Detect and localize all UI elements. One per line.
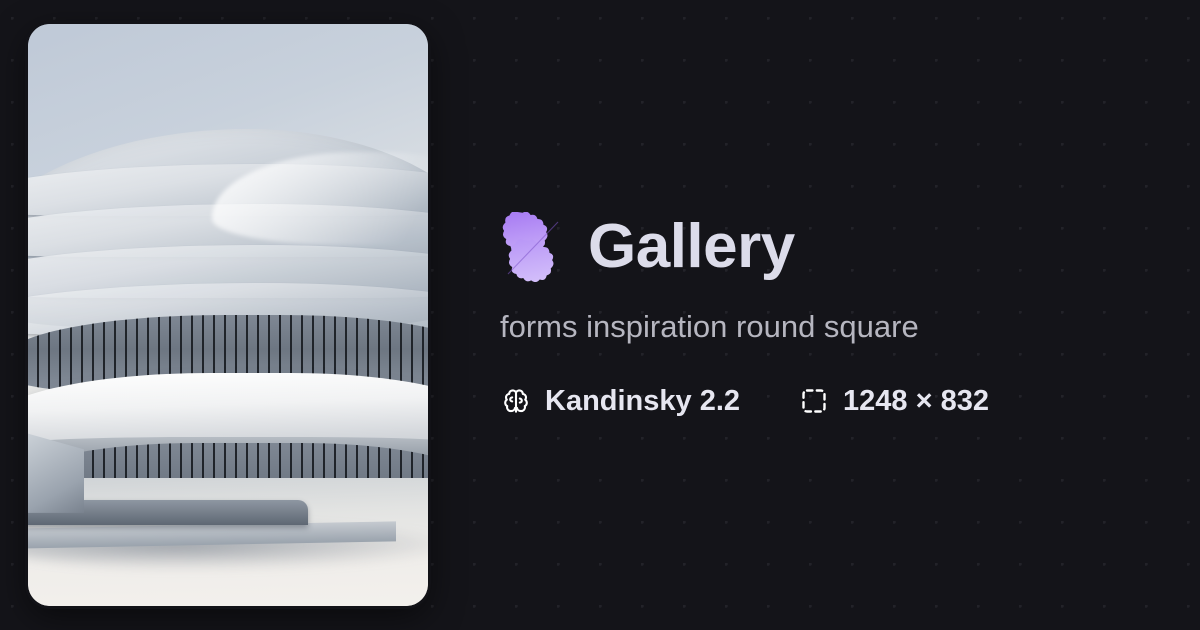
title-row: Gallery [500, 212, 1160, 282]
model-meta-item: Kandinsky 2.2 [500, 385, 740, 418]
dimensions-label: 1248 × 832 [843, 385, 989, 418]
prompt-subtitle: forms inspiration round square [500, 308, 1160, 347]
thumbnail-frame[interactable] [28, 24, 428, 606]
crop-frame-icon [798, 385, 830, 417]
thumbnail-image [28, 24, 428, 606]
gallery-preview-card: Gallery forms inspiration round square K… [0, 0, 1200, 630]
metadata-row: Kandinsky 2.2 1248 × 832 [500, 385, 1160, 418]
dimensions-meta-item: 1248 × 832 [798, 385, 989, 418]
model-label: Kandinsky 2.2 [545, 385, 740, 418]
page-title: Gallery [588, 216, 795, 278]
brain-icon [500, 385, 532, 417]
cog-split-logo-icon [500, 212, 566, 282]
card-content: Gallery forms inspiration round square K… [500, 0, 1160, 630]
